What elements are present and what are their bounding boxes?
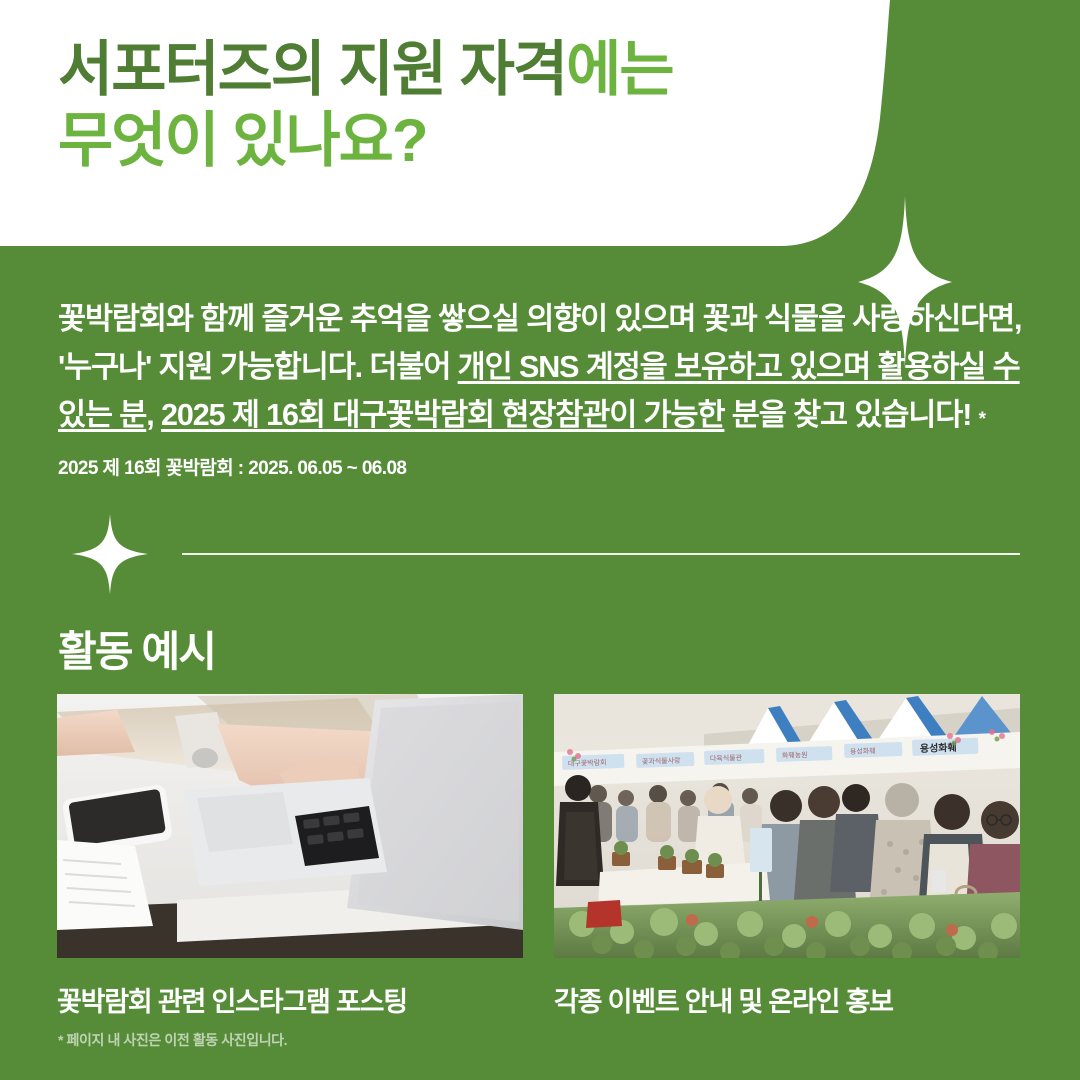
footer-note: * 페이지 내 사진은 이전 활동 사진입니다. <box>58 1030 287 1050</box>
photo-laptop-typing <box>57 694 523 958</box>
example-caption: 꽃박람회 관련 인스타그램 포스팅 <box>57 980 523 1019</box>
body-segment-5: 분을 찾고 있습니다! <box>724 398 971 432</box>
sparkle-icon <box>58 512 178 596</box>
example-item: 꽃박람회 관련 인스타그램 포스팅 <box>57 694 523 1019</box>
photo-flower-expo-crowd: 대구꽃박람회 꽃과식물사랑 다육식물관 화훼농원 용성화훼 용성화훼 <box>554 694 1020 958</box>
title-line1-light: 에는 <box>566 36 672 103</box>
body-segment-3: , <box>146 398 161 432</box>
divider-rule <box>182 553 1020 555</box>
svg-text:용성화훼: 용성화훼 <box>920 741 957 755</box>
body-paragraph: 꽃박람회와 함께 즐거운 추억을 쌓으실 의향이 있으며 꽃과 식물을 사랑하신… <box>58 295 1026 488</box>
examples-grid: 꽃박람회 관련 인스타그램 포스팅 <box>57 694 1023 1019</box>
example-item: 대구꽃박람회 꽃과식물사랑 다육식물관 화훼농원 용성화훼 용성화훼 <box>554 694 1020 1019</box>
title-line1-dark: 서포터즈의 지원 자격 <box>58 36 566 103</box>
example-caption: 각종 이벤트 안내 및 온라인 홍보 <box>554 980 1020 1019</box>
divider <box>58 512 1020 596</box>
section-heading: 활동 예시 <box>58 618 215 679</box>
body-underline-expo: 2025 제 16회 대구꽃박람회 현장참관이 가능한 <box>161 398 724 432</box>
supporters-qualification-card: 서포터즈의 지원 자격에는 무엇이 있나요? 꽃박람회와 함께 즐거운 추억을 … <box>0 0 1080 1080</box>
title-line2: 무엇이 있나요? <box>58 107 878 174</box>
header: 서포터즈의 지원 자격에는 무엇이 있나요? <box>0 0 1080 246</box>
page-title: 서포터즈의 지원 자격에는 무엇이 있나요? <box>58 36 878 174</box>
